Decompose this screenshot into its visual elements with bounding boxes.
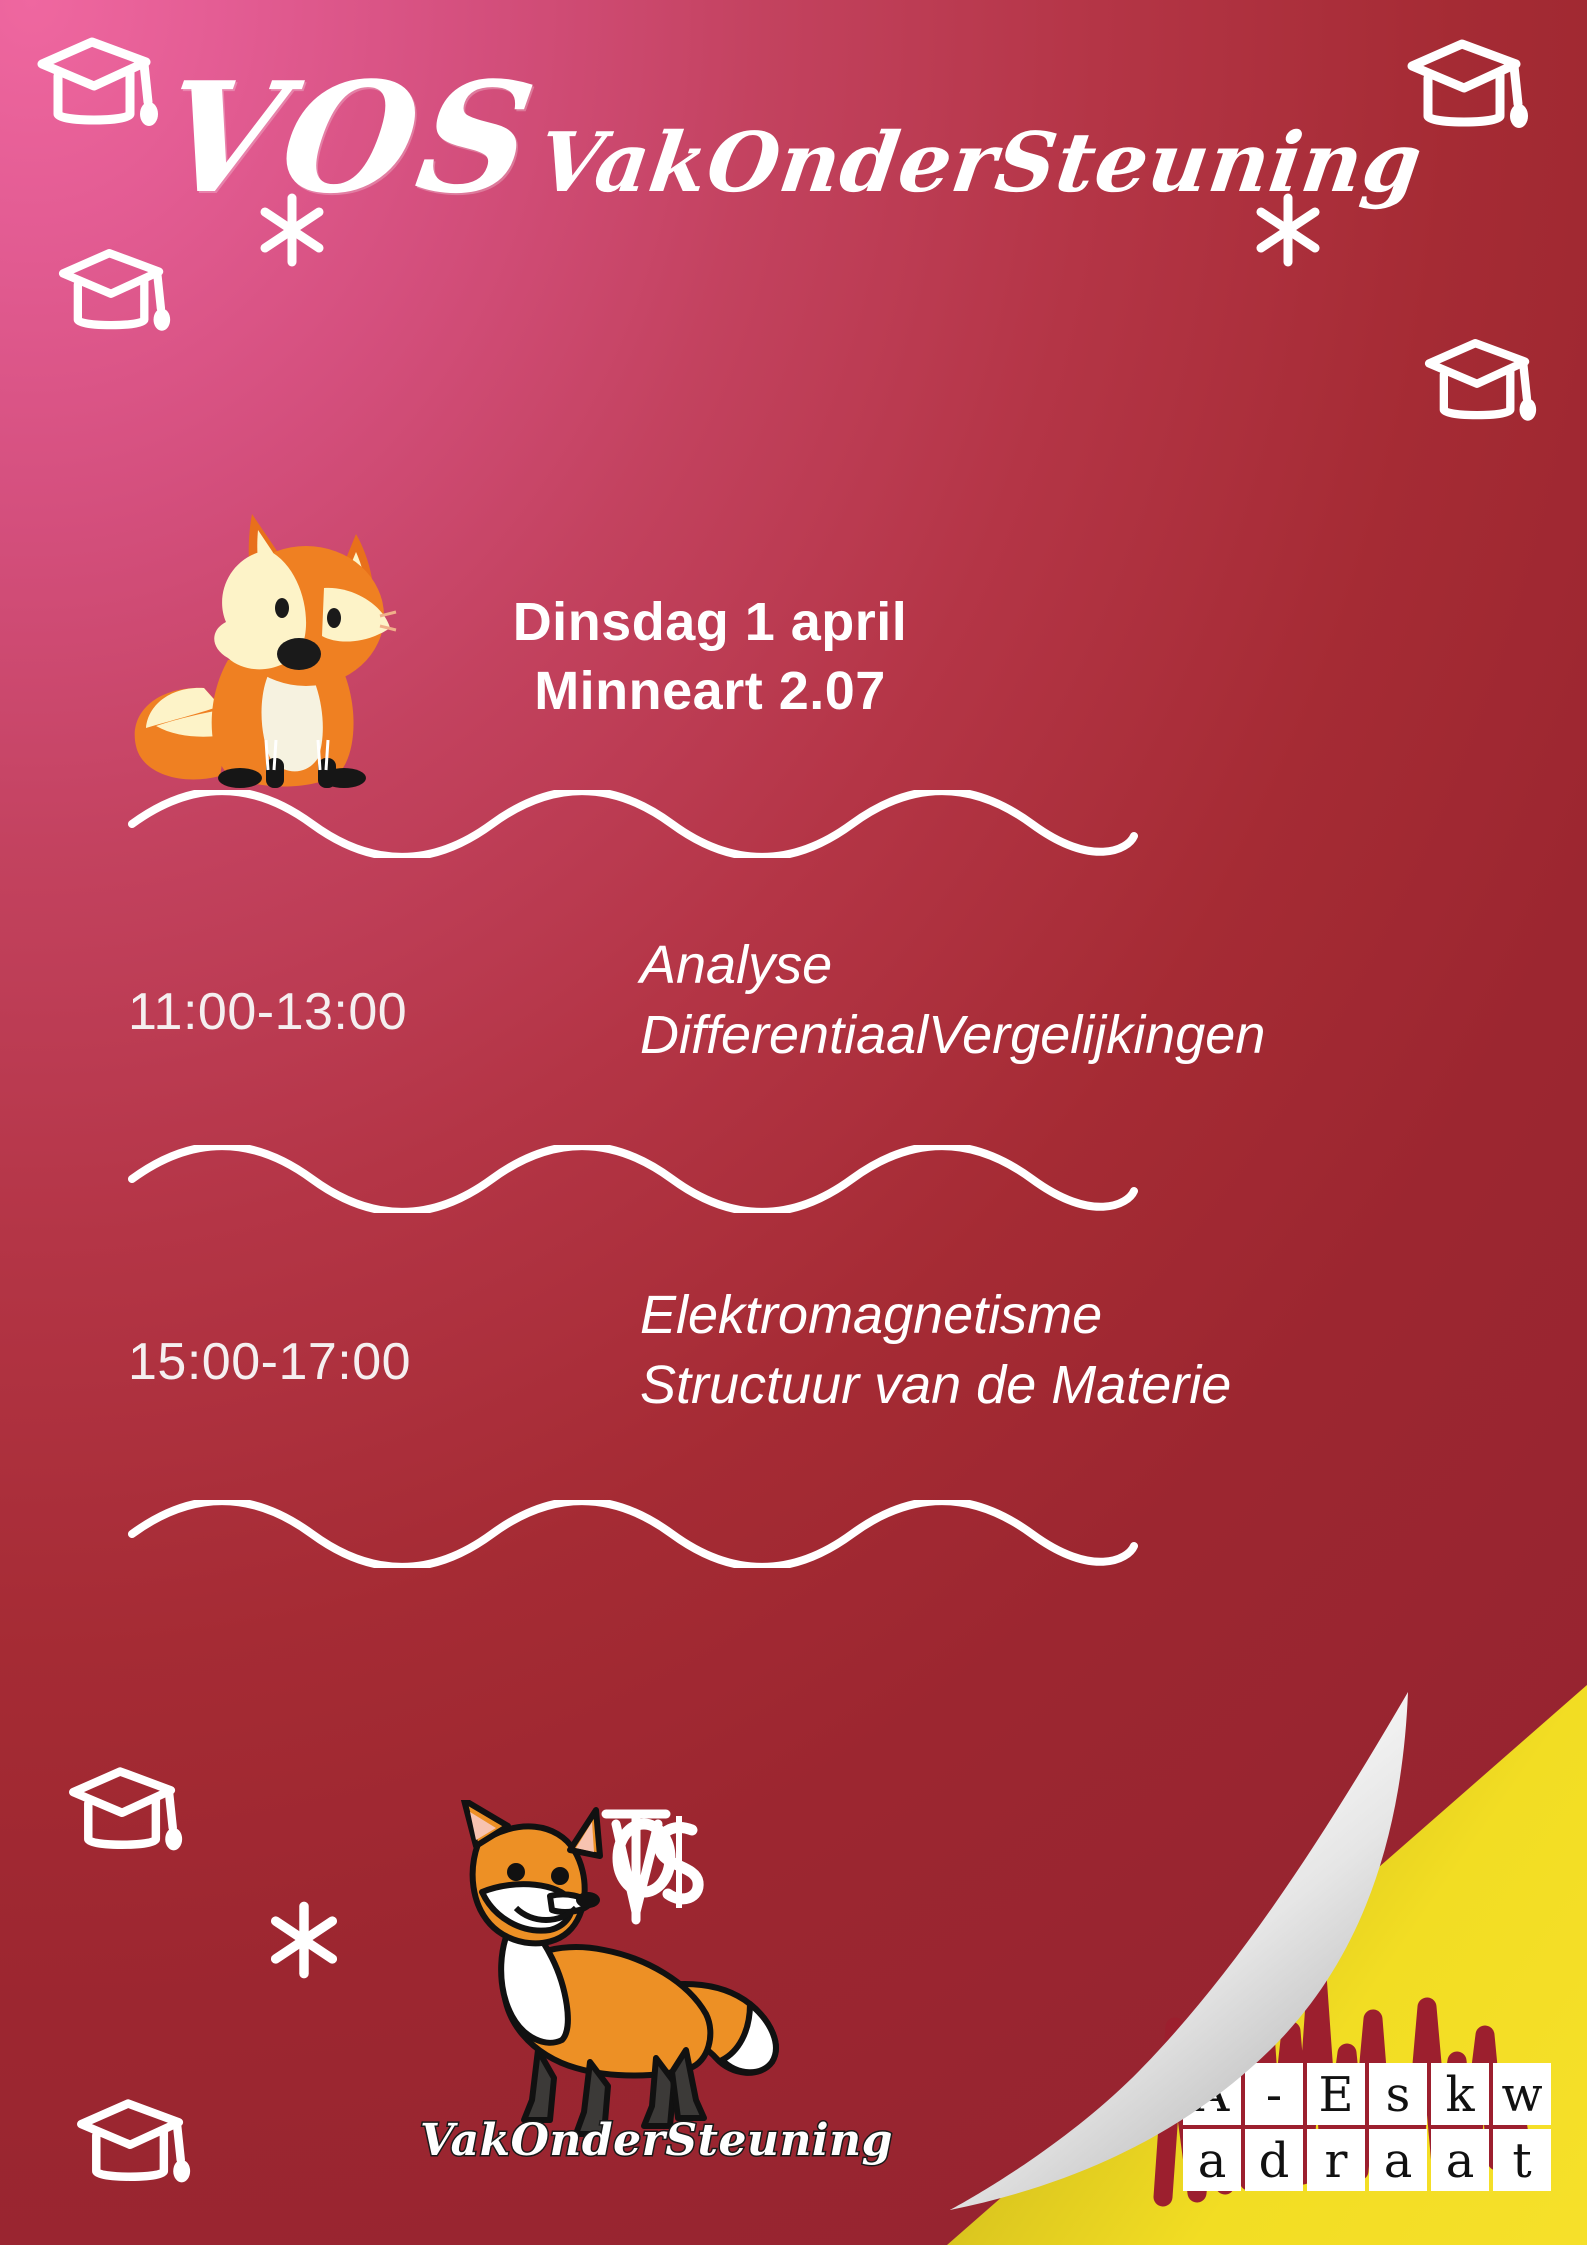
graduation-cap-icon (62, 1758, 184, 1862)
svg-text:w: w (1501, 2067, 1542, 2123)
graduation-cap-icon (52, 240, 172, 342)
wave-divider (128, 1145, 1138, 1213)
sparkle-star-icon (262, 1898, 346, 1982)
graduation-cap-icon (30, 28, 160, 138)
sparkle-star-icon (252, 190, 332, 270)
event-details: Dinsdag 1 april Minneart 2.07 (330, 588, 1090, 726)
wave-divider (128, 1500, 1138, 1568)
sparkle-star-icon (1248, 190, 1328, 270)
subject-line: Structuur van de Materie (640, 1350, 1231, 1420)
graduation-cap-icon (70, 2090, 192, 2194)
subject-line: DifferentiaalVergelijkingen (640, 1000, 1265, 1070)
slot-time: 15:00-17:00 (128, 1332, 411, 1392)
vos-fox-logo (420, 1800, 890, 2160)
svg-text:t: t (1512, 2133, 1531, 2189)
event-date: Dinsdag 1 april (330, 588, 1090, 657)
poster-canvas: A - E s k w a d r a a t (0, 0, 1587, 2245)
page-curl (940, 1690, 1500, 2245)
graduation-cap-icon (1418, 330, 1538, 432)
subject-line: Elektromagnetisme (640, 1280, 1231, 1350)
slot-subjects: Analyse DifferentiaalVergelijkingen (640, 930, 1265, 1070)
slot-subjects: Elektromagnetisme Structuur van de Mater… (640, 1280, 1231, 1420)
graduation-cap-icon (1400, 30, 1530, 140)
vos-monogram (606, 1814, 698, 1920)
footer-brand-caption: VakOnderSteuning (420, 2115, 890, 2166)
event-location: Minneart 2.07 (330, 657, 1090, 726)
slot-time: 11:00-13:00 (128, 982, 407, 1042)
wave-divider (128, 790, 1138, 858)
subject-line: Analyse (640, 930, 1265, 1000)
